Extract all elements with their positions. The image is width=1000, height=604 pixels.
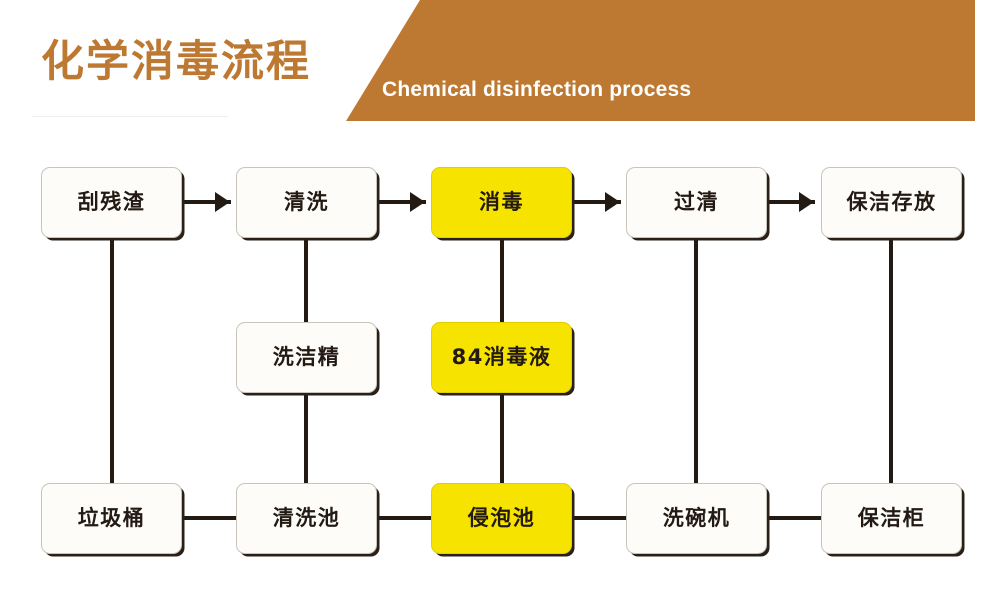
node-clean-store[interactable]: 保洁存放 — [821, 167, 962, 238]
node-scrape-label: 刮残渣 — [78, 192, 146, 213]
node-trash-bin[interactable]: 垃圾桶 — [41, 483, 182, 554]
node-disinfect[interactable]: 消毒 — [431, 167, 572, 238]
arrow-head-disinfect-to-rinse — [605, 192, 620, 212]
node-clean-cabinet[interactable]: 保洁柜 — [821, 483, 962, 554]
node-clean-store-label: 保洁存放 — [847, 192, 937, 213]
node-clean-cabinet-label: 保洁柜 — [858, 508, 926, 529]
node-dishwasher-label: 洗碗机 — [663, 508, 731, 529]
node-rinse-label: 过清 — [674, 192, 719, 213]
link-sink-to-soak — [377, 516, 433, 520]
arrow-head-wash-to-disinfect — [410, 192, 425, 212]
node-soak-tank-label: 侵泡池 — [468, 508, 536, 529]
link-dishwasher-to-cabinet — [766, 516, 822, 520]
node-detergent[interactable]: 洗洁精 — [236, 322, 377, 393]
connector-scrape-to-trashbin — [110, 236, 114, 486]
node-wash-sink[interactable]: 清洗池 — [236, 483, 377, 554]
node-rinse[interactable]: 过清 — [626, 167, 767, 238]
node-disinfect-label: 消毒 — [479, 192, 524, 213]
node-trash-bin-label: 垃圾桶 — [78, 508, 146, 529]
node-wash-sink-label: 清洗池 — [273, 508, 341, 529]
node-dishwasher[interactable]: 洗碗机 — [626, 483, 767, 554]
process-flowchart: 刮残渣 清洗 消毒 过清 保洁存放 洗洁精 84消毒液 垃圾桶 清洗池 侵 — [0, 0, 1000, 604]
node-scrape[interactable]: 刮残渣 — [41, 167, 182, 238]
link-soak-to-dishwasher — [572, 516, 628, 520]
arrow-head-rinse-to-cleanstore — [799, 192, 814, 212]
link-trashbin-to-sink — [182, 516, 238, 520]
node-bleach-84-label: 84消毒液 — [452, 347, 552, 368]
node-wash[interactable]: 清洗 — [236, 167, 377, 238]
connector-rinse-to-dishwasher — [694, 236, 698, 486]
node-wash-label: 清洗 — [284, 192, 329, 213]
arrow-head-scrape-to-wash — [215, 192, 230, 212]
node-soak-tank[interactable]: 侵泡池 — [431, 483, 572, 554]
node-detergent-label: 洗洁精 — [273, 347, 341, 368]
flowchart-page: 化学消毒流程 Chemical disinfection process 刮残渣 — [0, 0, 1000, 604]
connector-cleanstore-to-cabinet — [889, 236, 893, 486]
node-bleach-84[interactable]: 84消毒液 — [431, 322, 572, 393]
